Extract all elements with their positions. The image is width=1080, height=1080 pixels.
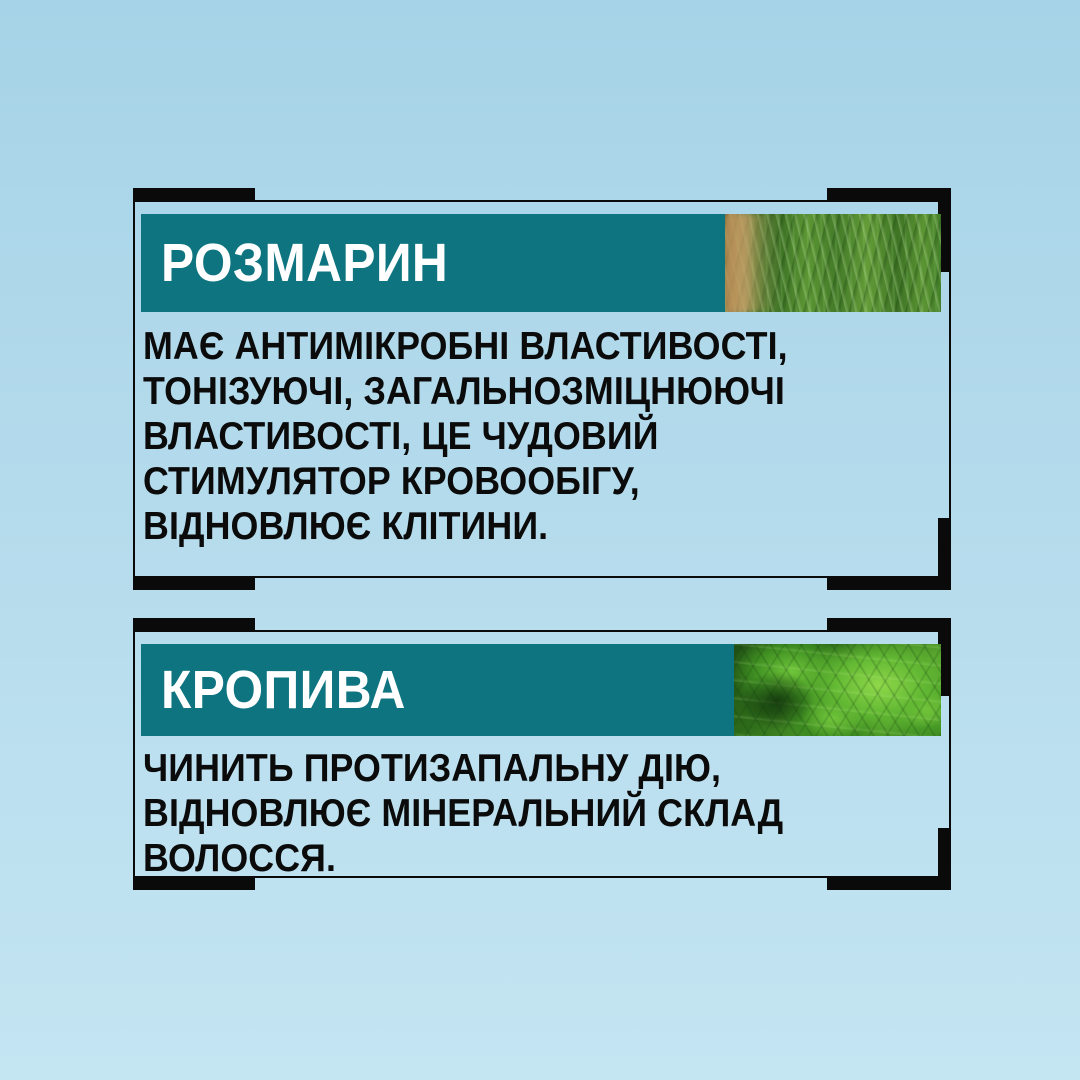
card-body-line: ВІДНОВЛЮЄ КЛІТИНИ. — [143, 504, 883, 549]
rosemary-plant-photo — [725, 214, 941, 312]
corner-bracket-bottom-right-vertical — [938, 828, 951, 890]
card-body-nettle: ЧИНИТЬ ПРОТИЗАПАЛЬНУ ДІЮ, ВІДНОВЛЮЄ МІНЕ… — [143, 746, 939, 881]
card-body-line: ВЛАСТИВОСТІ, ЦЕ ЧУДОВИЙ — [143, 414, 883, 459]
card-title-nettle: КРОПИВА — [161, 663, 406, 717]
card-title-container: РОЗМАРИН — [141, 214, 725, 312]
card-title-container: КРОПИВА — [141, 644, 734, 736]
card-body-line: ВІДНОВЛЮЄ МІНЕРАЛЬНИЙ СКЛАД — [143, 791, 883, 836]
card-body-line: ВОЛОССЯ. — [143, 836, 883, 881]
card-body-line: СТИМУЛЯТОР КРОВООБІГУ, — [143, 459, 883, 504]
corner-bracket-top-right — [827, 618, 951, 632]
corner-bracket-bottom-right-vertical — [938, 518, 951, 590]
info-card-nettle: КРОПИВА ЧИНИТЬ ПРОТИЗАПАЛЬНУ ДІЮ, ВІДНОВ… — [133, 630, 951, 878]
nettle-shadow-patch — [742, 672, 812, 729]
nettle-plant-photo — [734, 644, 941, 736]
card-title-rosemary: РОЗМАРИН — [161, 236, 448, 290]
corner-bracket-top-left — [133, 188, 255, 202]
card-header-band-rosemary: РОЗМАРИН — [141, 214, 941, 312]
card-body-line: ТОНІЗУЮЧІ, ЗАГАЛЬНОЗМІЦНЮЮЧІ — [143, 369, 883, 414]
corner-bracket-top-left — [133, 618, 255, 632]
card-body-rosemary: МАЄ АНТИМІКРОБНІ ВЛАСТИВОСТІ, ТОНІЗУЮЧІ,… — [143, 324, 939, 549]
card-body-line: МАЄ АНТИМІКРОБНІ ВЛАСТИВОСТІ, — [143, 324, 883, 369]
corner-bracket-top-right — [827, 188, 951, 202]
card-header-band-nettle: КРОПИВА — [141, 644, 941, 736]
rosemary-background-blur — [725, 214, 781, 312]
info-card-rosemary: РОЗМАРИН МАЄ АНТИМІКРОБНІ ВЛАСТИВОСТІ, Т… — [133, 200, 951, 578]
card-border-left — [133, 200, 135, 578]
infographic-canvas: РОЗМАРИН МАЄ АНТИМІКРОБНІ ВЛАСТИВОСТІ, Т… — [0, 0, 1080, 1080]
corner-bracket-bottom-left — [133, 576, 255, 590]
card-body-line: ЧИНИТЬ ПРОТИЗАПАЛЬНУ ДІЮ, — [143, 746, 883, 791]
corner-bracket-bottom-right — [827, 576, 951, 590]
card-border-left — [133, 630, 135, 878]
